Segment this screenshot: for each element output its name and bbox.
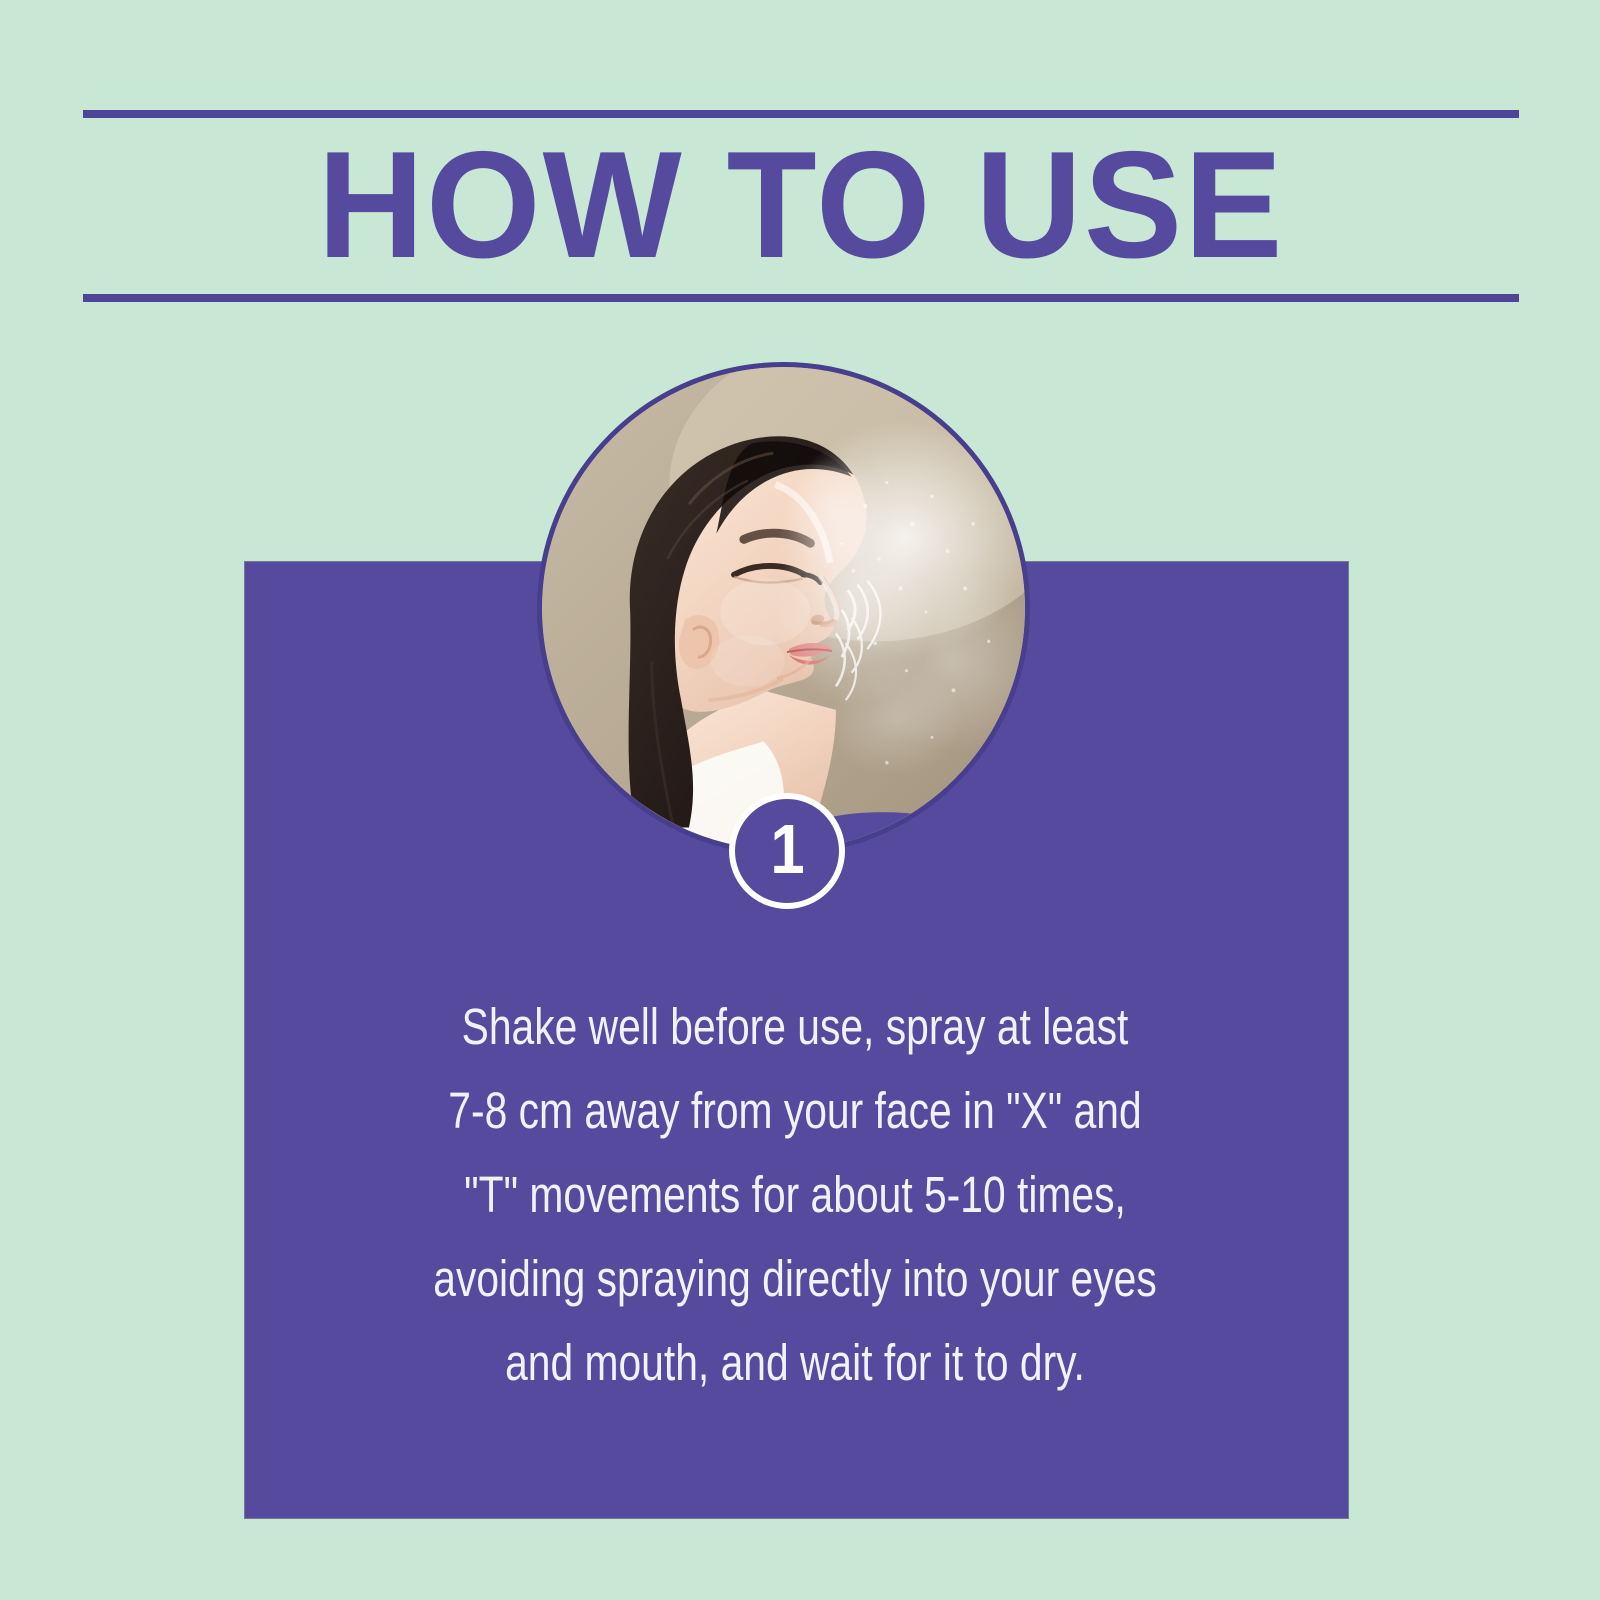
instruction-line: avoiding spraying directly into your eye… <box>399 1237 1191 1321</box>
instruction-line: 7-8 cm away from your face in "X" and <box>399 1069 1191 1153</box>
title-rule-top <box>83 110 1519 118</box>
step-number-label: 1 <box>770 814 804 884</box>
step-photo-image <box>542 367 1025 850</box>
header-block: HOW TO USE <box>83 110 1519 302</box>
page-title: HOW TO USE <box>105 118 1498 294</box>
how-to-use-poster: HOW TO USE <box>0 0 1600 1600</box>
step-photo <box>537 362 1030 855</box>
instruction-text: Shake well before use, spray at least 7-… <box>300 985 1290 1405</box>
title-rule-bottom <box>83 294 1519 302</box>
instruction-line: "T" movements for about 5-10 times, <box>399 1153 1191 1237</box>
instruction-line: Shake well before use, spray at least <box>399 985 1191 1069</box>
instruction-line: and mouth, and wait for it to dry. <box>399 1321 1191 1405</box>
step-number-badge: 1 <box>729 793 845 909</box>
